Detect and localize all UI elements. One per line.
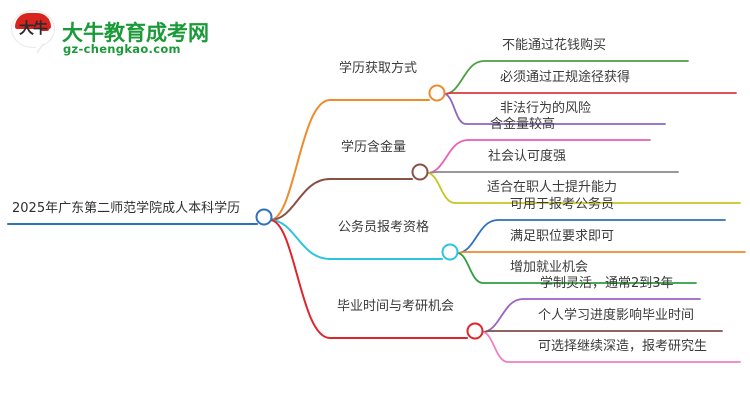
root-node[interactable] [257, 210, 272, 225]
connector-line [457, 252, 745, 253]
root-node-label: 2025年广东第二师范学院成人本科学历 [12, 201, 240, 217]
leaf-label-3-3: 增加就业机会 [510, 260, 588, 276]
leaf-label-1-3: 非法行为的风险 [500, 101, 591, 117]
leaf-label-4-1: 学制灵活，通常2到3年 [540, 276, 674, 292]
connector-line [482, 331, 722, 332]
branch-label-1: 学历获取方式 [339, 61, 417, 77]
mindmap-page: 大牛 大牛教育成考网 gz-chengkao.com 2025年广东第二师范学院… [0, 0, 750, 410]
leaf-label-2-2: 社会认可度强 [488, 149, 566, 165]
leaf-label-4-3: 可选择继续深造，报考研究生 [538, 339, 707, 355]
connector-line [444, 93, 736, 94]
leaf-label-3-1: 可用于报考公务员 [510, 197, 614, 213]
leaf-label-4-2: 个人学习进度影响毕业时间 [538, 308, 694, 324]
branch-node-1[interactable] [430, 86, 445, 101]
connector-line [427, 172, 678, 173]
connector-line [270, 100, 429, 220]
connector-line [270, 220, 467, 338]
branch-node-3[interactable] [443, 245, 458, 260]
branch-node-4[interactable] [468, 324, 483, 339]
branch-label-4: 毕业时间与考研机会 [337, 299, 454, 315]
leaf-label-1-2: 必须通过正规途径获得 [500, 70, 630, 86]
branch-label-3: 公务员报考资格 [338, 220, 429, 236]
branch-label-2: 学历含金量 [341, 140, 406, 156]
leaf-label-3-2: 满足职位要求即可 [510, 229, 614, 245]
branch-node-2[interactable] [413, 165, 428, 180]
leaf-label-2-3: 适合在职人士提升能力 [487, 180, 617, 196]
leaf-label-2-1: 含金量较高 [490, 117, 555, 133]
leaf-label-1-1: 不能通过花钱购买 [502, 38, 606, 54]
